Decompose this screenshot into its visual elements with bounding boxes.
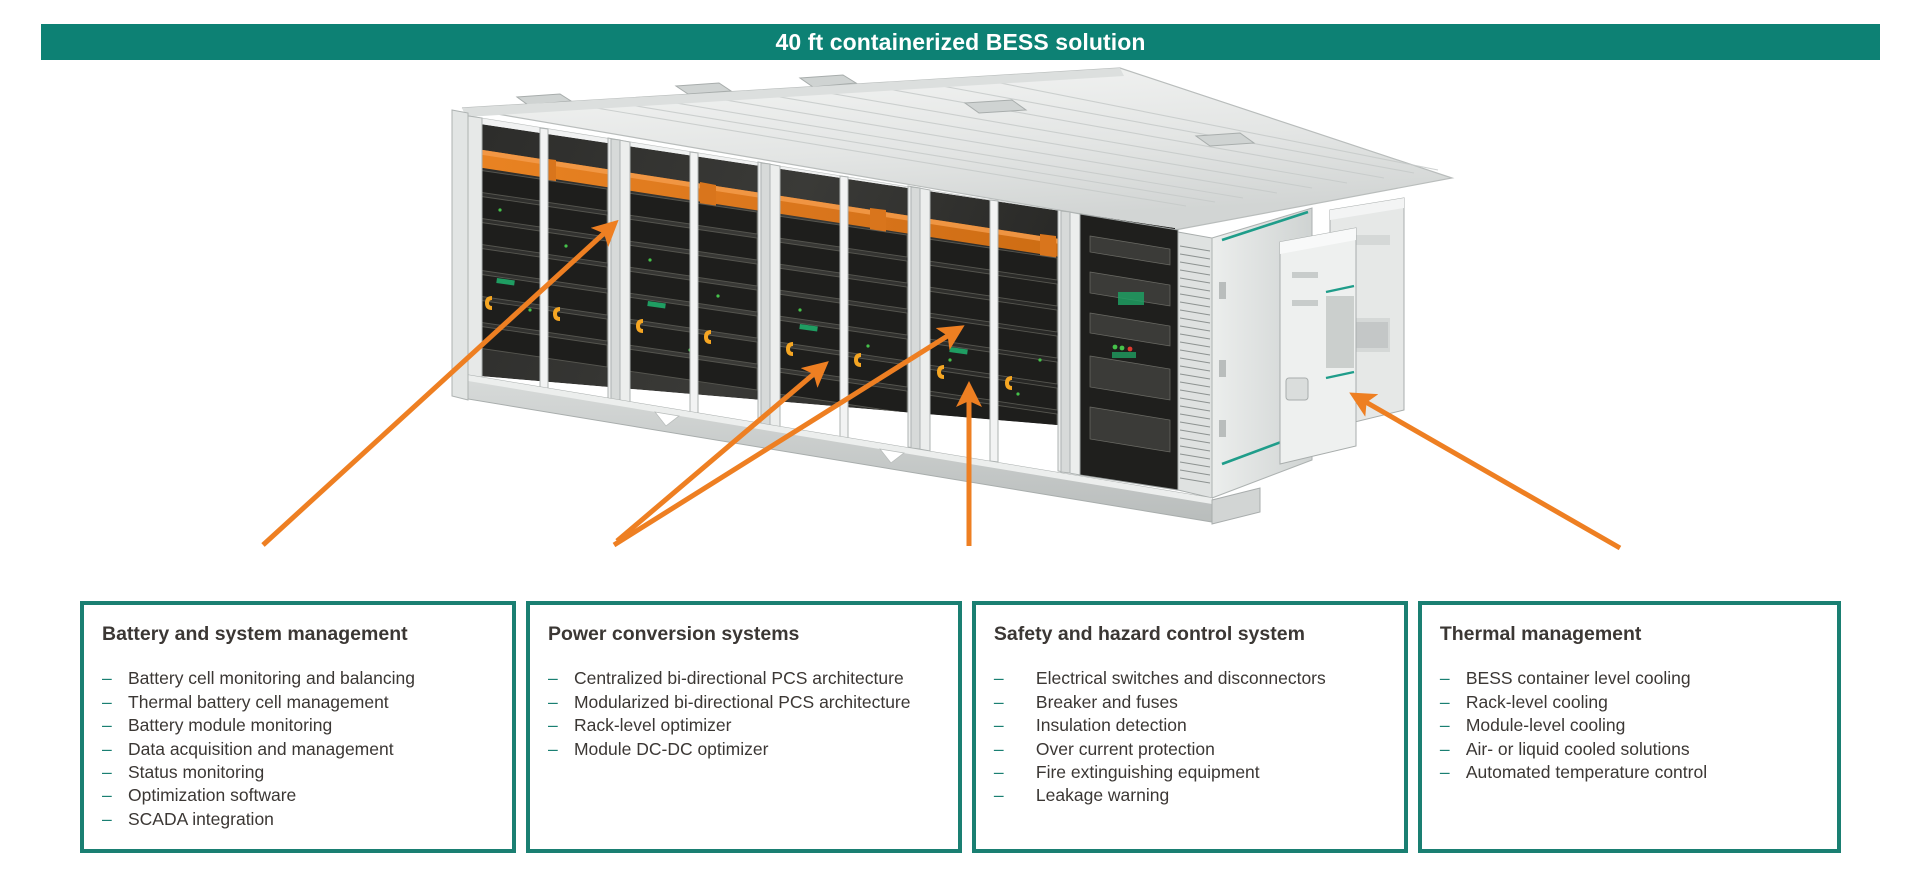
list-item-label: Over current protection	[1036, 738, 1386, 760]
list-item: –BESS container level cooling	[1440, 667, 1819, 689]
list-item: –Air- or liquid cooled solutions	[1440, 738, 1819, 760]
card-bullet-list: –Electrical switches and disconnectors –…	[994, 667, 1386, 806]
list-item-label: Leakage warning	[1036, 784, 1386, 806]
list-item: –Battery module monitoring	[102, 714, 494, 736]
list-item: –Status monitoring	[102, 761, 494, 783]
list-item-label: Air- or liquid cooled solutions	[1466, 738, 1819, 760]
list-item-label: Rack-level optimizer	[574, 714, 940, 736]
list-item-label: Battery cell monitoring and balancing	[128, 667, 494, 689]
container-render-svg	[0, 60, 1921, 605]
bullet-dash: –	[102, 808, 128, 830]
card-bullet-list: –Centralized bi-directional PCS architec…	[548, 667, 940, 760]
bullet-dash: –	[548, 714, 574, 736]
bullet-dash: –	[548, 738, 574, 760]
list-item: –Module DC-DC optimizer	[548, 738, 940, 760]
list-item-label: Automated temperature control	[1466, 761, 1819, 783]
bullet-dash: –	[102, 761, 128, 783]
bullet-dash: –	[994, 714, 1036, 736]
list-item: –Over current protection	[994, 738, 1386, 760]
card-battery-and-system-management[interactable]: Battery and system management –Battery c…	[80, 601, 516, 853]
list-item: –Fire extinguishing equipment	[994, 761, 1386, 783]
list-item-label: Status monitoring	[128, 761, 494, 783]
bullet-dash: –	[102, 667, 128, 689]
card-safety-and-hazard-control-system[interactable]: Safety and hazard control system –Electr…	[972, 601, 1408, 853]
card-title: Thermal management	[1440, 623, 1819, 645]
list-item-label: Modularized bi-directional PCS architect…	[574, 691, 940, 713]
card-bullet-list: –Battery cell monitoring and balancing –…	[102, 667, 494, 830]
page-title-bar: 40 ft containerized BESS solution	[41, 24, 1880, 60]
page-title: 40 ft containerized BESS solution	[775, 31, 1145, 54]
list-item-label: Module-level cooling	[1466, 714, 1819, 736]
feature-cards-row: Battery and system management –Battery c…	[80, 601, 1841, 853]
list-item-label: Battery module monitoring	[128, 714, 494, 736]
bullet-dash: –	[102, 738, 128, 760]
list-item: –Data acquisition and management	[102, 738, 494, 760]
card-title: Safety and hazard control system	[994, 623, 1386, 645]
list-item: –Leakage warning	[994, 784, 1386, 806]
bullet-dash: –	[548, 667, 574, 689]
list-item-label: Rack-level cooling	[1466, 691, 1819, 713]
list-item: –Battery cell monitoring and balancing	[102, 667, 494, 689]
list-item: –SCADA integration	[102, 808, 494, 830]
list-item: –Electrical switches and disconnectors	[994, 667, 1386, 689]
bess-container-illustration	[0, 60, 1921, 605]
bullet-dash: –	[102, 691, 128, 713]
card-title: Power conversion systems	[548, 623, 940, 645]
pcs-cabinet	[1080, 214, 1178, 490]
list-item-label: Thermal battery cell management	[128, 691, 494, 713]
list-item: –Insulation detection	[994, 714, 1386, 736]
bullet-dash: –	[1440, 738, 1466, 760]
card-title: Battery and system management	[102, 623, 494, 645]
list-item-label: Breaker and fuses	[1036, 691, 1386, 713]
bullet-dash: –	[1440, 714, 1466, 736]
list-item: –Breaker and fuses	[994, 691, 1386, 713]
card-thermal-management[interactable]: Thermal management –BESS container level…	[1418, 601, 1841, 853]
list-item-label: Insulation detection	[1036, 714, 1386, 736]
bullet-dash: –	[994, 784, 1036, 806]
list-item-label: Module DC-DC optimizer	[574, 738, 940, 760]
list-item: –Centralized bi-directional PCS architec…	[548, 667, 940, 689]
bullet-dash: –	[1440, 761, 1466, 783]
louver-vent-panel	[1178, 232, 1212, 498]
list-item-label: Data acquisition and management	[128, 738, 494, 760]
list-item: –Automated temperature control	[1440, 761, 1819, 783]
bullet-dash: –	[994, 738, 1036, 760]
bullet-dash: –	[102, 714, 128, 736]
list-item: –Optimization software	[102, 784, 494, 806]
list-item: –Rack-level optimizer	[548, 714, 940, 736]
bullet-dash: –	[994, 667, 1036, 689]
list-item-label: Optimization software	[128, 784, 494, 806]
list-item-label: SCADA integration	[128, 808, 494, 830]
list-item-label: Fire extinguishing equipment	[1036, 761, 1386, 783]
list-item-label: BESS container level cooling	[1466, 667, 1819, 689]
bullet-dash: –	[548, 691, 574, 713]
bullet-dash: –	[102, 784, 128, 806]
card-power-conversion-systems[interactable]: Power conversion systems –Centralized bi…	[526, 601, 962, 853]
bullet-dash: –	[994, 691, 1036, 713]
bullet-dash: –	[1440, 667, 1466, 689]
bullet-dash: –	[994, 761, 1036, 783]
list-item: –Rack-level cooling	[1440, 691, 1819, 713]
list-item-label: Centralized bi-directional PCS architect…	[574, 667, 940, 689]
list-item: –Modularized bi-directional PCS architec…	[548, 691, 940, 713]
card-bullet-list: –BESS container level cooling –Rack-leve…	[1440, 667, 1819, 783]
list-item-label: Electrical switches and disconnectors	[1036, 667, 1386, 689]
list-item: –Module-level cooling	[1440, 714, 1819, 736]
list-item: –Thermal battery cell management	[102, 691, 494, 713]
bullet-dash: –	[1440, 691, 1466, 713]
